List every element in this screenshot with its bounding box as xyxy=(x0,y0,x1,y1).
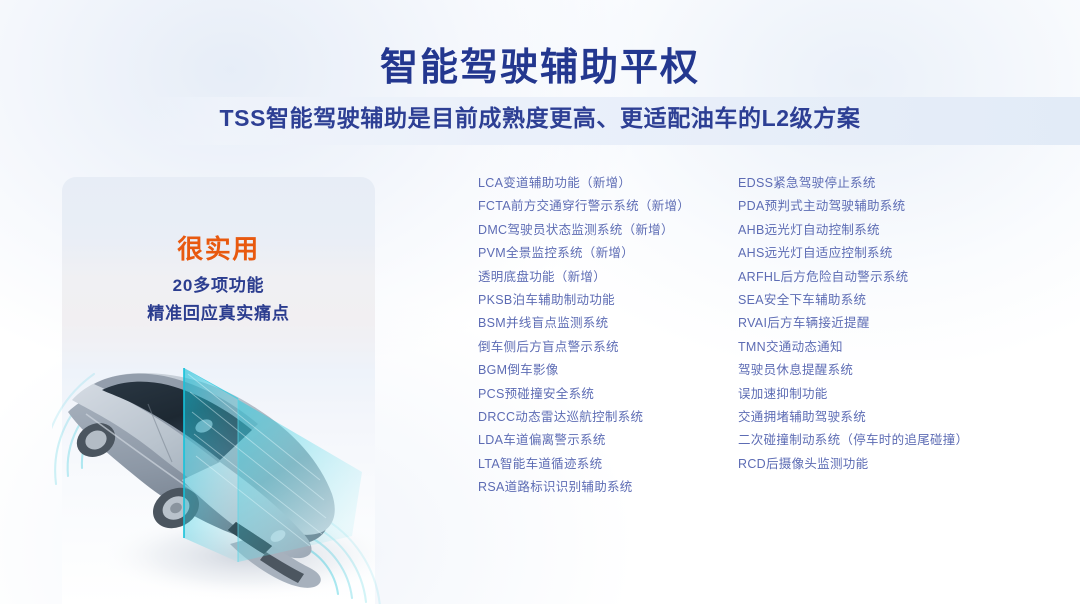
feature-column-2: EDSS紧急驾驶停止系统 PDA预判式主动驾驶辅助系统 AHB远光灯自动控制系统… xyxy=(738,172,1058,476)
feature-item: PVM全景监控系统（新增） xyxy=(478,242,738,265)
feature-item: 交通拥堵辅助驾驶系统 xyxy=(738,406,1058,429)
feature-item: LCA变道辅助功能（新增） xyxy=(478,172,738,195)
feature-item: PCS预碰撞安全系统 xyxy=(478,383,738,406)
panel-subtext: 20多项功能 精准回应真实痛点 xyxy=(62,272,375,328)
feature-item: 误加速抑制功能 xyxy=(738,383,1058,406)
feature-item: EDSS紧急驾驶停止系统 xyxy=(738,172,1058,195)
feature-item: 二次碰撞制动系统（停车时的追尾碰撞） xyxy=(738,429,1058,452)
feature-item: PKSB泊车辅助制动功能 xyxy=(478,289,738,312)
feature-item: DMC驾驶员状态监测系统（新增） xyxy=(478,219,738,242)
page-title: 智能驾驶辅助平权 xyxy=(0,36,1080,91)
feature-item: RCD后摄像头监测功能 xyxy=(738,453,1058,476)
feature-item: AHS远光灯自适应控制系统 xyxy=(738,242,1058,265)
feature-item: BGM倒车影像 xyxy=(478,359,738,382)
feature-item: ARFHL后方危险自动警示系统 xyxy=(738,266,1058,289)
panel-kicker: 很实用 xyxy=(62,229,375,266)
feature-item: RVAI后方车辆接近提醒 xyxy=(738,312,1058,335)
highlight-panel: 很实用 20多项功能 精准回应真实痛点 xyxy=(62,177,375,604)
feature-item: RSA道路标识识别辅助系统 xyxy=(478,476,738,499)
page-subtitle: TSS智能驾驶辅助是目前成熟度更高、更适配油车的L2级方案 xyxy=(0,99,1080,133)
panel-subtext-line-2: 精准回应真实痛点 xyxy=(62,300,375,328)
feature-item: TMN交通动态通知 xyxy=(738,336,1058,359)
feature-item: 倒车侧后方盲点警示系统 xyxy=(478,336,738,359)
feature-item: SEA安全下车辅助系统 xyxy=(738,289,1058,312)
feature-column-1: LCA变道辅助功能（新增） FCTA前方交通穿行警示系统（新增） DMC驾驶员状… xyxy=(478,172,738,500)
feature-item: PDA预判式主动驾驶辅助系统 xyxy=(738,195,1058,218)
panel-subtext-line-1: 20多项功能 xyxy=(62,272,375,300)
feature-item: DRCC动态雷达巡航控制系统 xyxy=(478,406,738,429)
feature-item: LDA车道偏离警示系统 xyxy=(478,429,738,452)
feature-item: AHB远光灯自动控制系统 xyxy=(738,219,1058,242)
feature-columns: LCA变道辅助功能（新增） FCTA前方交通穿行警示系统（新增） DMC驾驶员状… xyxy=(470,172,1070,502)
feature-item: 透明底盘功能（新增） xyxy=(478,266,738,289)
feature-item: FCTA前方交通穿行警示系统（新增） xyxy=(478,195,738,218)
feature-item: BSM并线盲点监测系统 xyxy=(478,312,738,335)
feature-item: LTA智能车道循迹系统 xyxy=(478,453,738,476)
feature-item: 驾驶员休息提醒系统 xyxy=(738,359,1058,382)
slide-root: 智能驾驶辅助平权 TSS智能驾驶辅助是目前成熟度更高、更适配油车的L2级方案 很… xyxy=(0,0,1080,604)
